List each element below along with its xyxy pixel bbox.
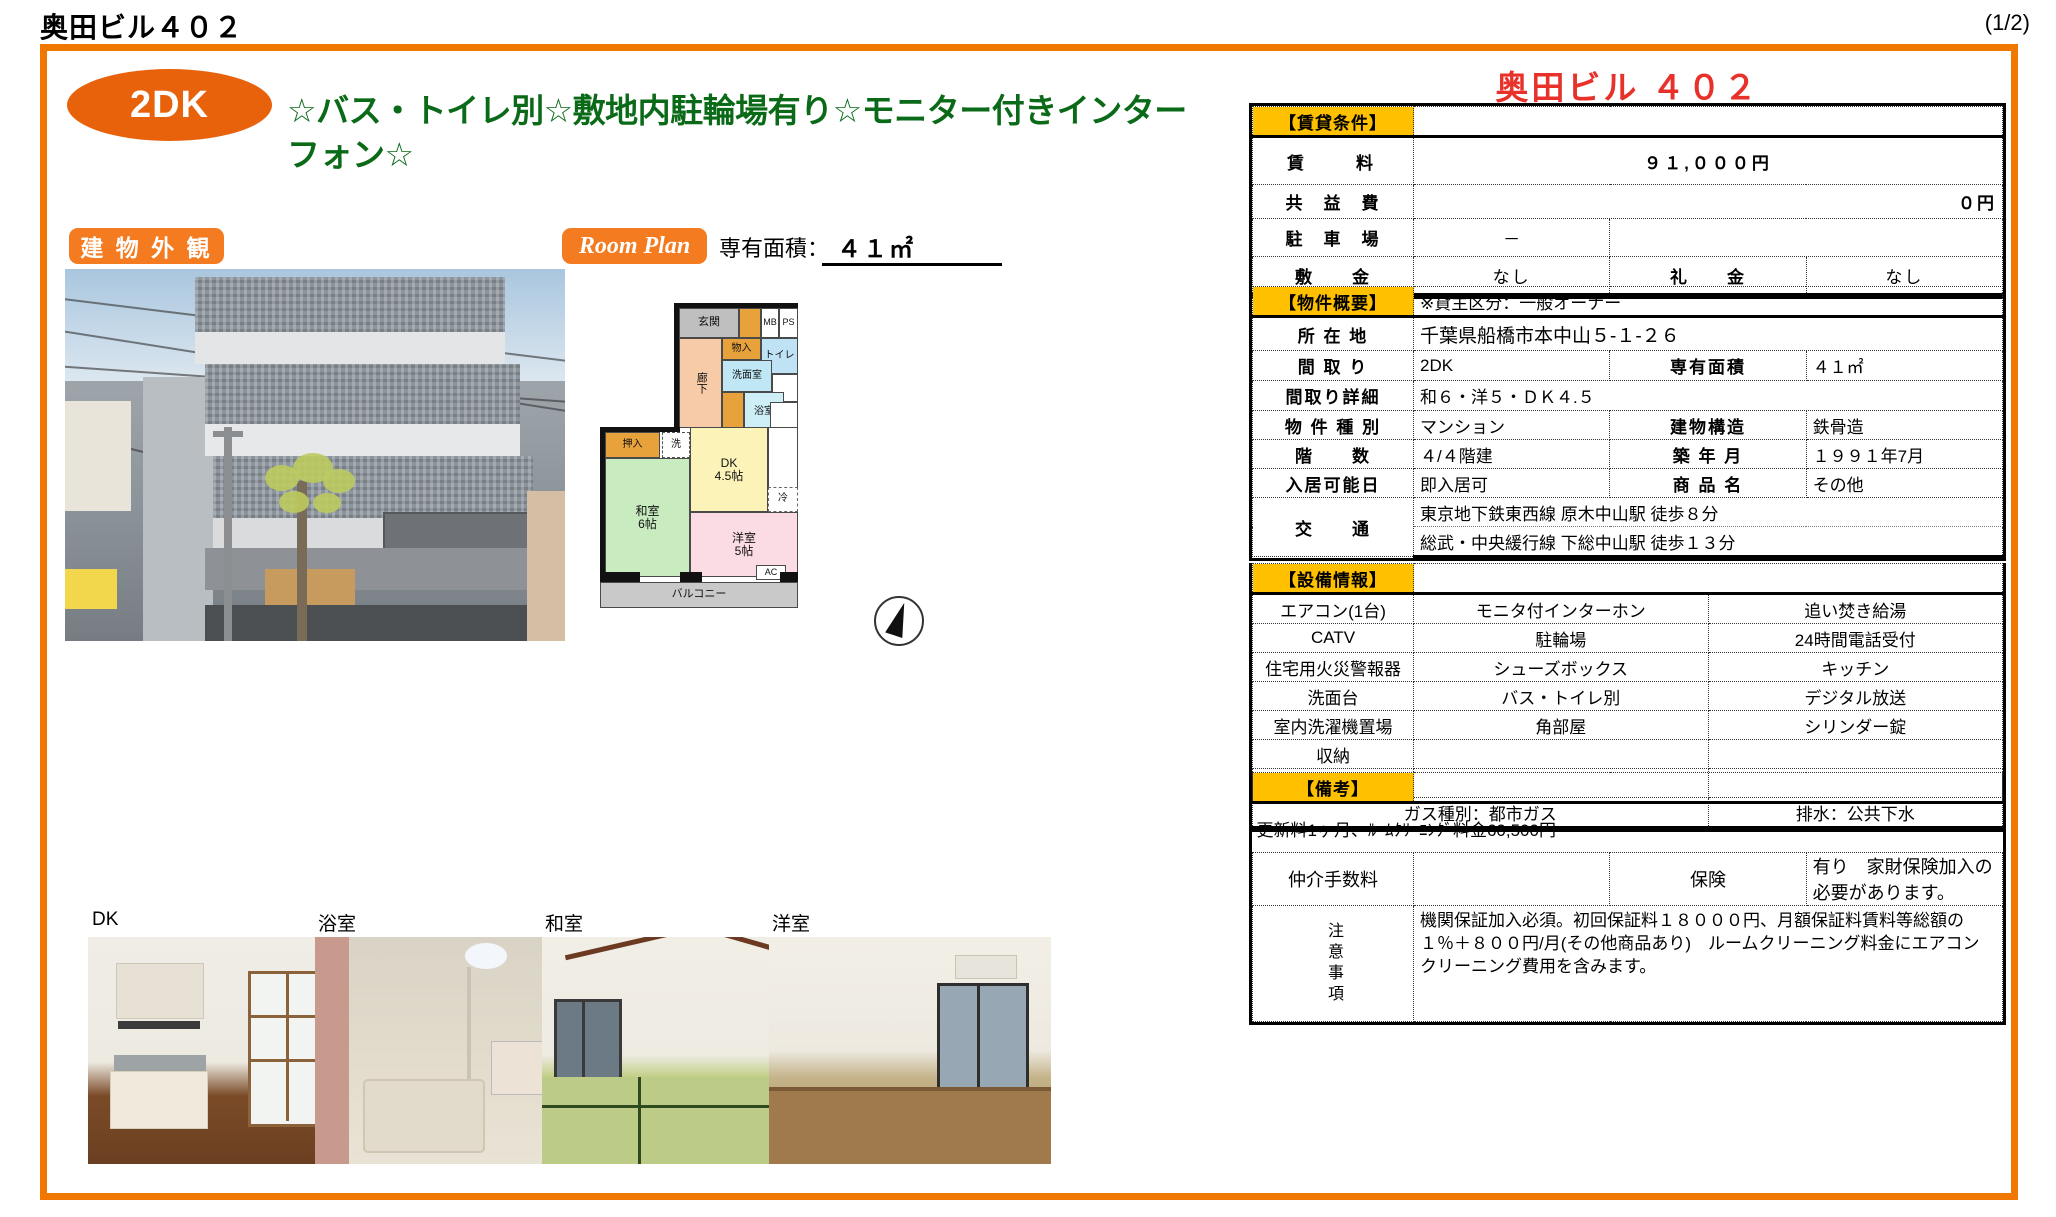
exclusive-area-label: 専有面積 bbox=[1610, 351, 1806, 381]
facilities-title: 【設備情報】 bbox=[1253, 564, 1414, 594]
catchphrase: ☆バス・トイレ別☆敷地内駐輪場有り☆モニター付きインターフォン☆ bbox=[287, 89, 1187, 176]
brokerage-fee-label: 仲介手数料 bbox=[1253, 853, 1414, 906]
fp-washroom: 洗面室 bbox=[722, 360, 772, 392]
facility-item: 駐輪場 bbox=[1414, 624, 1709, 653]
facility-item: シューズボックス bbox=[1414, 653, 1709, 682]
facility-item: シリンダー錠 bbox=[1708, 711, 2003, 740]
facility-item: 住宅用火災警報器 bbox=[1253, 653, 1414, 682]
maintenance-fee-label: 共 益 費 bbox=[1253, 185, 1414, 219]
facility-item: 追い焚き給湯 bbox=[1708, 594, 2003, 624]
fp-mb: MB bbox=[761, 308, 779, 338]
insurance-label: 保険 bbox=[1610, 853, 1806, 906]
layout-detail-value: 和６・洋５・ＤＫ４.５ bbox=[1414, 381, 2003, 411]
remarks-table: 【備考】 更新料1ヶ月、ﾙｰﾑｸﾘｰﾆﾝｸﾞ料金60,500円 仲介手数料 保険… bbox=[1249, 772, 2006, 1025]
fp-oshiire: 押入 bbox=[605, 432, 660, 458]
parking-value: － bbox=[1414, 219, 1610, 257]
fp-washer: 洗 bbox=[662, 432, 690, 458]
fp-entrance: 玄関 bbox=[679, 308, 739, 338]
rental-conditions-table: 【賃貸条件】 賃 料 ９１,０００円 共 益 費 ０円 駐 車 場 － bbox=[1249, 103, 2006, 299]
compass-icon bbox=[874, 596, 924, 646]
built-date-value: １９９１年7月 bbox=[1806, 440, 2002, 469]
floors-label: 階 数 bbox=[1253, 440, 1414, 469]
photo-caption-youshitsu: 洋室 bbox=[772, 909, 810, 936]
maintenance-fee-value: ０円 bbox=[1414, 185, 2003, 219]
rental-conditions-title: 【賃貸条件】 bbox=[1253, 107, 1414, 137]
fp-washitsu-size: 6帖 bbox=[638, 518, 657, 531]
facility-item: 収納 bbox=[1253, 740, 1414, 769]
exclusive-area-value: ４１㎡ bbox=[1806, 351, 2002, 381]
facility-item: モニタ付インターホン bbox=[1414, 594, 1709, 624]
facility-item: 24時間電話受付 bbox=[1708, 624, 2003, 653]
structure-label: 建物構造 bbox=[1610, 411, 1806, 440]
area-value: ４１㎡ bbox=[837, 229, 915, 264]
building-exterior-photo bbox=[65, 269, 565, 641]
facility-item bbox=[1414, 740, 1709, 769]
insurance-value: 有り 家財保険加入の必要があります。 bbox=[1806, 853, 2002, 906]
fp-bath-door bbox=[722, 392, 744, 432]
parking-label: 駐 車 場 bbox=[1253, 219, 1414, 257]
fp-hallway: 廊下 bbox=[679, 338, 722, 428]
floor-plan: 玄関 MB PS トイレ 物入 廊下 洗面室 浴室 押入 洗 和室 6帖 bbox=[592, 277, 862, 677]
page-indicator: (1/2) bbox=[1985, 10, 2030, 36]
brokerage-fee-value bbox=[1414, 853, 1610, 906]
photo-caption-bathroom: 浴室 bbox=[318, 909, 356, 936]
property-overview-title: 【物件概要】 bbox=[1253, 287, 1414, 317]
layout-badge: 2DK bbox=[67, 69, 272, 141]
photo-youshitsu bbox=[769, 937, 1051, 1164]
remarks-title-blank bbox=[1414, 773, 2003, 803]
fp-entrance-door bbox=[739, 308, 761, 338]
photo-gallery: DK 浴室 和室 洋室 bbox=[40, 909, 1238, 1199]
facility-item: デジタル放送 bbox=[1708, 682, 2003, 711]
rent-value: ９１,０００円 bbox=[1414, 137, 2003, 185]
layout-value: 2DK bbox=[1414, 351, 1610, 381]
access-line-2: 総武・中央緩行線 下総中山駅 徒歩１３分 bbox=[1414, 527, 2003, 557]
access-label: 交 通 bbox=[1253, 498, 1414, 557]
address-label: 所 在 地 bbox=[1253, 317, 1414, 351]
layout-label: 間 取 り bbox=[1253, 351, 1414, 381]
area-underline bbox=[822, 263, 1002, 266]
property-type-label: 物 件 種 別 bbox=[1253, 411, 1414, 440]
available-date-label: 入居可能日 bbox=[1253, 469, 1414, 498]
rental-conditions-title-blank bbox=[1414, 107, 2003, 137]
address-value: 千葉県船橋市本中山５-１-２６ bbox=[1414, 317, 2003, 351]
fp-ps: PS bbox=[779, 308, 798, 338]
tag-building-exterior: 建 物 外 観 bbox=[69, 228, 224, 264]
remarks-line-1: 更新料1ヶ月、ﾙｰﾑｸﾘｰﾆﾝｸﾞ料金60,500円 bbox=[1253, 803, 2003, 853]
document-title: 奥田ビル４０２ bbox=[40, 6, 243, 46]
fp-youshitsu-size: 5帖 bbox=[735, 545, 754, 558]
parking-value-extra bbox=[1610, 219, 2003, 257]
facilities-title-blank bbox=[1414, 564, 2003, 594]
available-date-value: 即入居可 bbox=[1414, 469, 1610, 498]
facility-item: キッチン bbox=[1708, 653, 2003, 682]
structure-value: 鉄骨造 bbox=[1806, 411, 2002, 440]
right-column: 奥田ビル ４０２ 【賃貸条件】 賃 料 ９１,０００円 共 益 費 ０円 駐 車… bbox=[1242, 51, 2013, 1193]
facility-item bbox=[1708, 740, 2003, 769]
fp-dk: DK 4.5帖 bbox=[690, 427, 768, 512]
sheet-frame: 2DK ☆バス・トイレ別☆敷地内駐輪場有り☆モニター付きインターフォン☆ 建 物… bbox=[40, 44, 2018, 1200]
fp-washitsu: 和室 6帖 bbox=[605, 458, 690, 577]
tag-room-plan: Room Plan bbox=[562, 228, 707, 264]
notes-label: 注意事項 bbox=[1325, 922, 1341, 1006]
fp-dk-label: DK bbox=[721, 457, 738, 470]
product-name-value: その他 bbox=[1806, 469, 2002, 498]
fp-balcony: バルコニー bbox=[600, 582, 798, 608]
rent-label: 賃 料 bbox=[1253, 137, 1414, 185]
remarks-title: 【備考】 bbox=[1253, 773, 1414, 803]
property-overview-table: 【物件概要】 ※貸主区分：一般オーナー 所 在 地 千葉県船橋市本中山５-１-２… bbox=[1249, 286, 2006, 561]
area-label: 専有面積： bbox=[719, 231, 829, 263]
fp-fridge: 冷 bbox=[768, 487, 798, 512]
photo-caption-washitsu: 和室 bbox=[545, 909, 583, 936]
fp-youshitsu-label: 洋室 bbox=[732, 532, 756, 545]
fp-closet-small: 物入 bbox=[722, 338, 761, 360]
left-column: 2DK ☆バス・トイレ別☆敷地内駐輪場有り☆モニター付きインターフォン☆ 建 物… bbox=[47, 51, 1242, 1193]
access-line-1: 東京地下鉄東西線 原木中山駅 徒歩８分 bbox=[1414, 498, 2003, 527]
product-name-label: 商 品 名 bbox=[1610, 469, 1806, 498]
facility-item: 室内洗濯機置場 bbox=[1253, 711, 1414, 740]
facility-item: 角部屋 bbox=[1414, 711, 1709, 740]
property-type-value: マンション bbox=[1414, 411, 1610, 440]
floors-value: ４/４階建 bbox=[1414, 440, 1610, 469]
notes-text: 機関保証加入必須。初回保証料１８０００円、月額保証料賃料等総額の１％＋８００円/… bbox=[1414, 906, 2003, 1022]
fp-dk-size: 4.5帖 bbox=[715, 470, 744, 483]
property-name: 奥田ビル ４０２ bbox=[1242, 61, 2013, 109]
facility-item: エアコン(1台) bbox=[1253, 594, 1414, 624]
facility-item: バス・トイレ別 bbox=[1414, 682, 1709, 711]
layout-detail-label: 間取り詳細 bbox=[1253, 381, 1414, 411]
built-date-label: 築 年 月 bbox=[1610, 440, 1806, 469]
facility-item: 洗面台 bbox=[1253, 682, 1414, 711]
property-overview-note: ※貸主区分：一般オーナー bbox=[1414, 287, 2003, 317]
facility-item: CATV bbox=[1253, 624, 1414, 653]
fp-washitsu-label: 和室 bbox=[635, 505, 659, 518]
photo-caption-dk: DK bbox=[92, 909, 118, 931]
